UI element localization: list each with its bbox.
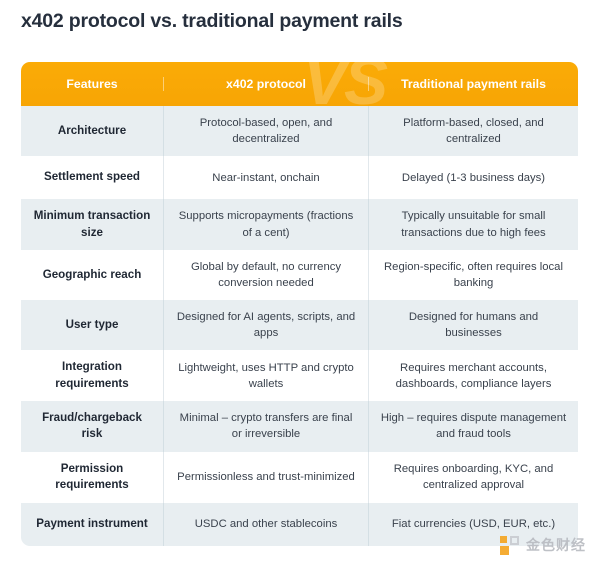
column-header-x402-protocol: x402 protocol	[163, 77, 368, 91]
cell-traditional: Platform-based, closed, and centralized	[368, 106, 578, 156]
cell-x402: Protocol-based, open, and decentralized	[163, 106, 368, 156]
cell-x402: Minimal – crypto transfers are final or …	[163, 401, 368, 452]
table-row: User typeDesigned for AI agents, scripts…	[21, 300, 578, 350]
cell-traditional: Typically unsuitable for small transacti…	[368, 199, 578, 250]
brand-logo-icon	[500, 536, 519, 555]
cell-traditional: Requires merchant accounts, dashboards, …	[368, 350, 578, 401]
cell-feature: Minimum transaction size	[21, 199, 163, 250]
page-title: x402 protocol vs. traditional payment ra…	[21, 10, 403, 33]
cell-feature: Fraud/chargeback risk	[21, 401, 163, 452]
cell-feature: User type	[21, 300, 163, 350]
table-row: Integration requirementsLightweight, use…	[21, 350, 578, 401]
cell-x402: USDC and other stablecoins	[163, 503, 368, 546]
cell-traditional: Requires onboarding, KYC, and centralize…	[368, 452, 578, 503]
table-row: Permission requirementsPermissionless an…	[21, 452, 578, 503]
cell-x402: Near-instant, onchain	[163, 156, 368, 199]
table-row: Geographic reachGlobal by default, no cu…	[21, 250, 578, 300]
table-row: Minimum transaction sizeSupports micropa…	[21, 199, 578, 250]
comparison-table: VS Features x402 protocol Traditional pa…	[21, 62, 578, 546]
table-row: Settlement speedNear-instant, onchainDel…	[21, 156, 578, 199]
cell-feature: Payment instrument	[21, 503, 163, 546]
cell-x402: Lightweight, uses HTTP and crypto wallet…	[163, 350, 368, 401]
table-row: ArchitectureProtocol-based, open, and de…	[21, 106, 578, 156]
cell-x402: Supports micropayments (fractions of a c…	[163, 199, 368, 250]
table-row: Fraud/chargeback riskMinimal – crypto tr…	[21, 401, 578, 452]
table-body: ArchitectureProtocol-based, open, and de…	[21, 106, 578, 546]
cell-feature: Architecture	[21, 106, 163, 156]
comparison-infographic: x402 protocol vs. traditional payment ra…	[0, 0, 600, 565]
column-header-features: Features	[21, 77, 163, 91]
cell-feature: Integration requirements	[21, 350, 163, 401]
cell-feature: Settlement speed	[21, 156, 163, 199]
table-header-row: VS Features x402 protocol Traditional pa…	[21, 62, 578, 106]
cell-x402: Permissionless and trust-minimized	[163, 452, 368, 503]
column-header-traditional-payment-rails: Traditional payment rails	[368, 77, 578, 91]
cell-x402: Designed for AI agents, scripts, and app…	[163, 300, 368, 350]
cell-traditional: Delayed (1-3 business days)	[368, 156, 578, 199]
brand-watermark-label: 金色财经	[526, 535, 586, 555]
brand-watermark: 金色财经	[500, 535, 586, 555]
cell-traditional: Designed for humans and businesses	[368, 300, 578, 350]
cell-feature: Permission requirements	[21, 452, 163, 503]
cell-traditional: High – requires dispute management and f…	[368, 401, 578, 452]
cell-feature: Geographic reach	[21, 250, 163, 300]
table-row: Payment instrumentUSDC and other stablec…	[21, 503, 578, 546]
cell-traditional: Region-specific, often requires local ba…	[368, 250, 578, 300]
cell-x402: Global by default, no currency conversio…	[163, 250, 368, 300]
